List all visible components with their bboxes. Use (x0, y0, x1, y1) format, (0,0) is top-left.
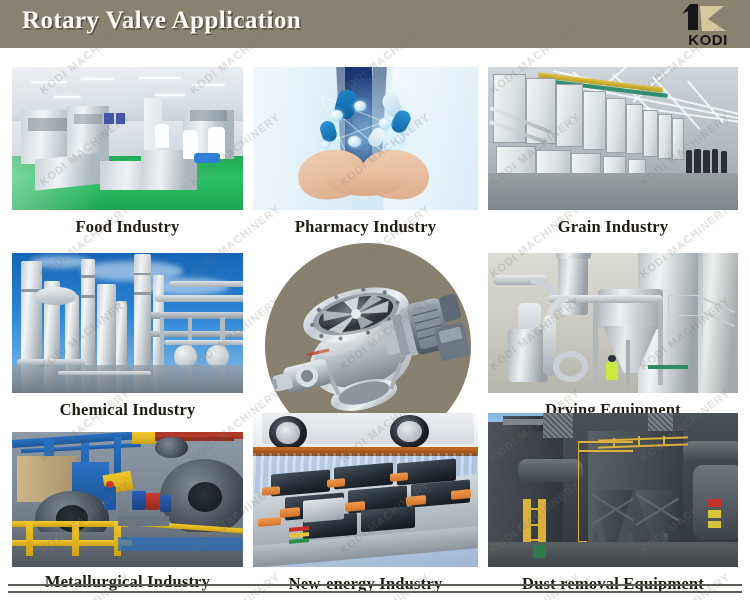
caption-chemical-industry: Chemical Industry (12, 400, 243, 420)
chemical-industry-image (12, 253, 243, 393)
food-industry-image (12, 67, 243, 210)
pharmacy-industry-image (253, 67, 478, 210)
svg-text:KODI: KODI (688, 32, 728, 48)
page-title: Rotary Valve Application (22, 7, 301, 35)
application-grid: Food Industry (0, 48, 750, 600)
page-header: Rotary Valve Application KODI (0, 0, 750, 48)
metallurgical-industry-image (12, 432, 243, 567)
grid-cell-food-industry[interactable]: Food Industry (12, 67, 243, 249)
caption-food-industry: Food Industry (12, 217, 243, 237)
bottom-divider-lower (8, 591, 742, 593)
rotary-valve-application-page: Rotary Valve Application KODI (0, 0, 750, 600)
caption-metallurgical-industry: Metallurgical Industry (12, 572, 243, 592)
grid-cell-metallurgical-industry[interactable]: Metallurgical Industry (12, 432, 243, 592)
caption-pharmacy-industry: Pharmacy Industry (253, 217, 478, 237)
grid-cell-grain-industry[interactable]: Grain Industry (488, 67, 738, 249)
grain-industry-image (488, 67, 738, 210)
bottom-divider-upper (8, 584, 742, 586)
grid-cell-dust-removal-equipment[interactable]: Dust removal Equipment (488, 413, 738, 592)
caption-grain-industry: Grain Industry (488, 217, 738, 237)
kodi-logo-mark: KODI (672, 0, 744, 48)
grid-cell-new-energy-industry[interactable]: New-energy Industry (253, 413, 478, 592)
new-energy-industry-image (253, 413, 478, 567)
grid-cell-chemical-industry[interactable]: Chemical Industry (12, 253, 243, 428)
dust-removal-equipment-image (488, 413, 738, 567)
grid-cell-pharmacy-industry[interactable]: Pharmacy Industry (253, 67, 478, 249)
grid-cell-drying-equipment[interactable]: Drying Equipment (488, 253, 738, 428)
drying-equipment-image (488, 253, 738, 393)
kodi-logo: KODI (672, 0, 744, 48)
